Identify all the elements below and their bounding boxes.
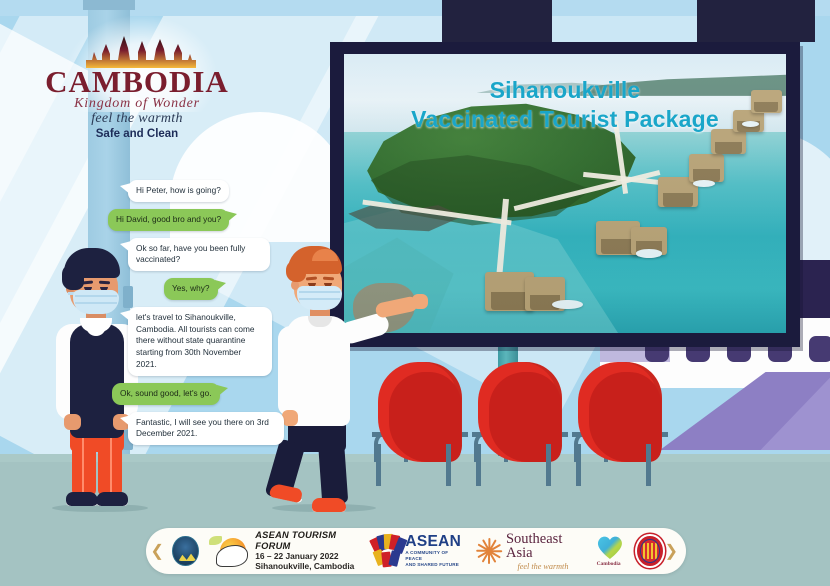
- atf-dove-sun-icon: [209, 534, 249, 568]
- photo-boat: [552, 300, 583, 310]
- waiting-chair[interactable]: [372, 356, 468, 486]
- hand: [64, 414, 81, 430]
- photo-boat: [636, 249, 663, 257]
- chair-leg: [576, 444, 581, 486]
- cambodia-heart-label: Cambodia: [594, 561, 623, 567]
- terminal-pillar-cap: [83, 0, 135, 10]
- hair: [64, 248, 120, 278]
- chat-bubble-outgoing: Ok, sound good, let's go.: [112, 383, 220, 405]
- cambodia-brand-logo: CAMBODIA Kingdom of Wonder feel the warm…: [22, 14, 252, 140]
- billboard-suspension-cable: [442, 0, 552, 48]
- sneaker: [312, 498, 346, 512]
- waiting-chair[interactable]: [472, 356, 568, 486]
- hand: [282, 410, 298, 426]
- asean-motto: A COMMUNITY OF PEACE AND SHARED FUTURE: [405, 550, 461, 568]
- southeast-asia-tagline: feel the warmth: [506, 562, 580, 571]
- leaf-shape: [209, 536, 222, 545]
- asean-rice-stalk-seal-icon: [635, 534, 664, 568]
- asean-wordmark: ASEAN A COMMUNITY OF PEACE AND SHARED FU…: [405, 534, 461, 568]
- flag: [388, 550, 400, 567]
- forum-title: ASEAN TOURISM FORUM: [255, 530, 358, 552]
- billboard-headline-line-1: Sihanoukville: [344, 76, 786, 105]
- asean-name: ASEAN: [405, 534, 461, 550]
- asean-motto-line-2: AND SHARED FUTURE: [405, 562, 461, 568]
- trouser-seam: [110, 438, 112, 494]
- southeast-asia-wordmark: Southeast Asia feel the warmth: [506, 532, 580, 571]
- chevron-right-icon: ❯: [665, 541, 678, 561]
- photo-overwater-bungalow: [689, 154, 724, 182]
- face-mask-icon: [73, 290, 119, 314]
- trouser-seam: [82, 438, 84, 494]
- trouser-leg: [72, 430, 96, 496]
- dove-shape: [216, 545, 248, 567]
- sponsor-logo-bar: ❮ ASEAN TOURISM FORUM 16 – 22 January 20…: [146, 528, 686, 574]
- asean-member-flags-icon: [372, 535, 401, 567]
- chevron-left-icon: ❮: [146, 541, 168, 561]
- chat-bubble-outgoing: Yes, why?: [164, 278, 218, 300]
- feel-the-warmth-tagline: feel the warmth: [22, 111, 252, 127]
- chat-bubble-outgoing: Hi David, good bro and you?: [108, 209, 229, 231]
- sneaker: [269, 483, 303, 503]
- billboard-screen: Sihanoukville Vaccinated Tourist Package: [344, 54, 786, 333]
- asean-tourism-forum-text: ASEAN TOURISM FORUM 16 – 22 January 2022…: [255, 530, 358, 572]
- chair-leg: [546, 444, 551, 486]
- chat-bubble-incoming: Hi Peter, how is going?: [128, 180, 229, 202]
- safe-and-clean-label: Safe and Clean: [22, 128, 252, 140]
- chair-leg: [646, 444, 651, 486]
- cambodia-tourism-emblem-icon: [172, 536, 198, 566]
- asean-tourism-poster: Sihanoukville Vaccinated Tourist Package…: [0, 0, 830, 586]
- heart-shape: [596, 535, 624, 560]
- shoe: [66, 492, 98, 506]
- shoe: [96, 492, 128, 506]
- face-mask-icon: [297, 286, 342, 310]
- rice-stalks: [643, 543, 656, 559]
- waiting-chair[interactable]: [572, 356, 668, 486]
- traveller-right: [266, 246, 384, 510]
- billboard-headline: Sihanoukville Vaccinated Tourist Package: [344, 76, 786, 134]
- billboard-suspension-cable: [697, 0, 815, 42]
- photo-boat: [693, 180, 715, 187]
- hair-highlight: [312, 249, 338, 261]
- southeast-asia-name: Southeast Asia: [506, 532, 580, 561]
- waiting-chairs-row: [372, 356, 672, 486]
- asean-motto-line-1: A COMMUNITY OF PEACE: [405, 550, 461, 562]
- trouser-leg: [318, 441, 348, 505]
- pointing-hand: [412, 294, 428, 309]
- chat-bubble-incoming: Ok so far, have you been fully vaccinate…: [128, 238, 270, 272]
- cambodia-heart-logo: Cambodia: [594, 534, 623, 568]
- kingdom-of-wonder-tagline: Kingdom of Wonder: [22, 96, 252, 112]
- airplane-window: [809, 336, 830, 362]
- sunburst-icon: [475, 536, 501, 566]
- chat-bubble-incoming: let's travel to Sihanoukville, Cambodia.…: [128, 307, 272, 376]
- chat-conversation: Hi Peter, how is going? Hi David, good b…: [118, 180, 276, 452]
- billboard-headline-line-2: Vaccinated Tourist Package: [344, 105, 786, 134]
- forum-location: Sihanoukville, Cambodia: [255, 562, 358, 572]
- cambodia-wordmark: CAMBODIA: [22, 66, 252, 97]
- chat-bubble-incoming: Fantastic, I will see you there on 3rd D…: [128, 412, 284, 446]
- chair-leg: [476, 444, 481, 486]
- chair-leg: [446, 444, 451, 486]
